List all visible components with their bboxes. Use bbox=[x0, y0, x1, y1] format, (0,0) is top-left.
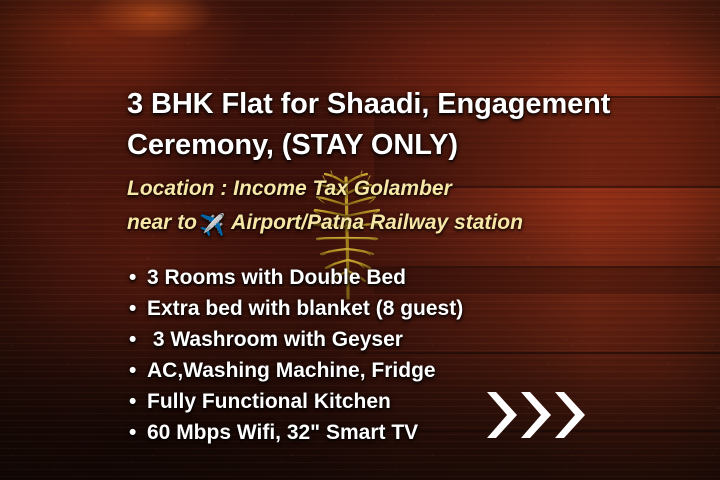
poster-content: 3 BHK Flat for Shaadi, Engagement Ceremo… bbox=[0, 0, 720, 480]
list-item: AC,Washing Machine, Fridge bbox=[129, 355, 569, 386]
location-line-2-suffix: Airport/Patna Railway station bbox=[231, 211, 523, 234]
chevron-right-icon bbox=[521, 392, 551, 438]
chevron-right-icon-group bbox=[487, 392, 597, 438]
property-listing-poster: 3 BHK Flat for Shaadi, Engagement Ceremo… bbox=[0, 0, 720, 480]
location-block: Location : Income Tax Golamber near to✈️… bbox=[127, 172, 647, 243]
airplane-icon: ✈️ bbox=[199, 209, 225, 243]
location-line-1: Location : Income Tax Golamber bbox=[127, 172, 647, 206]
list-item: 3 Washroom with Geyser bbox=[129, 324, 569, 355]
page-title: 3 BHK Flat for Shaadi, Engagement Ceremo… bbox=[127, 84, 627, 166]
location-line-2: near to✈️Airport/Patna Railway station bbox=[127, 206, 647, 243]
list-item: Extra bed with blanket (8 guest) bbox=[129, 293, 569, 324]
location-line-2-prefix: near to bbox=[127, 211, 197, 234]
chevron-right-icon bbox=[487, 392, 517, 438]
list-item: 3 Rooms with Double Bed bbox=[129, 262, 569, 293]
chevron-right-icon bbox=[555, 392, 585, 438]
